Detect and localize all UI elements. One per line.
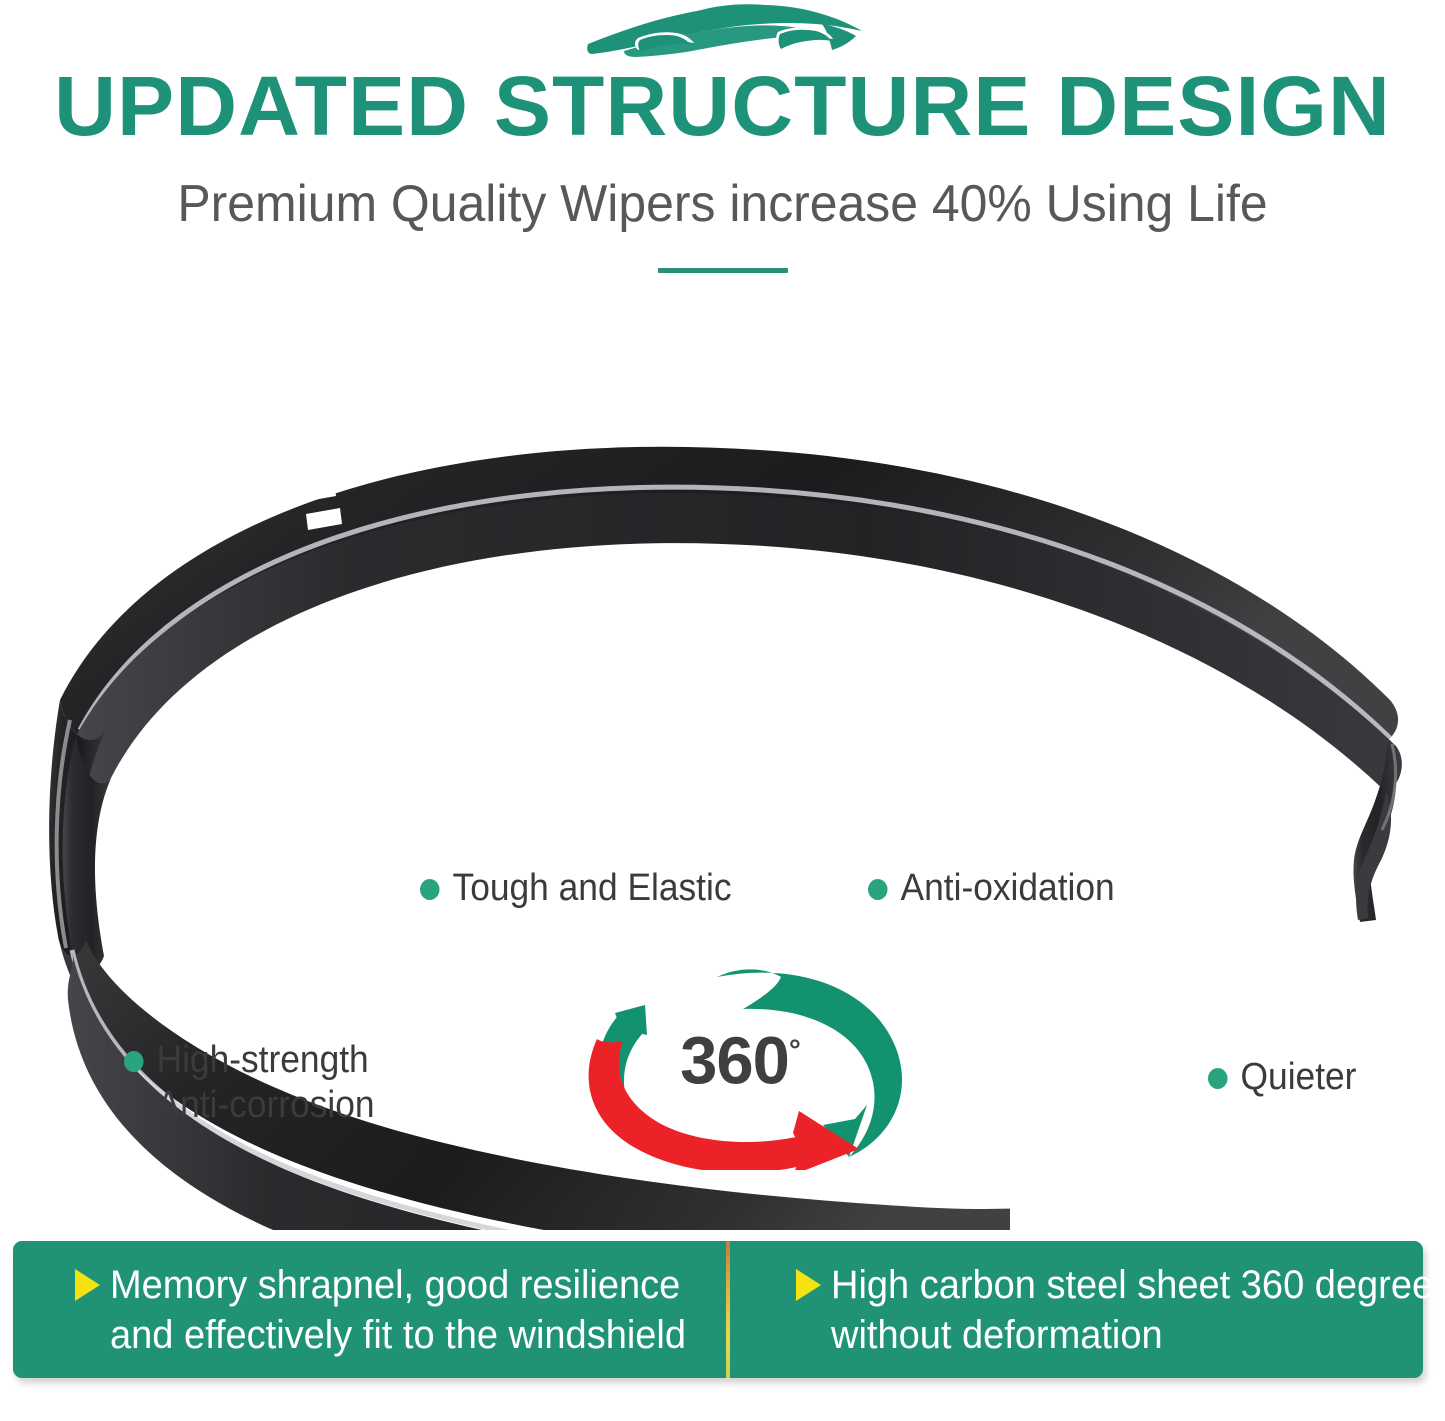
feature-label-text: Quieter (1241, 1055, 1357, 1100)
feature-high-strength-anti-corrosion: High-strength Anti-corrosion (124, 1038, 375, 1128)
feature-label-text: Anti-oxidation (901, 866, 1115, 911)
badge-360-text: 360° (567, 1016, 917, 1096)
page-subtitle: Premium Quality Wipers increase 40% Usin… (29, 172, 1416, 236)
page-title: UPDATED STRUCTURE DESIGN (0, 62, 1445, 150)
banner-text-line2: and effectively fit to the windshield (110, 1310, 686, 1360)
badge-360-degrees: 360° (567, 955, 917, 1170)
bottom-feature-banner: Memory shrapnel, good resilience and eff… (13, 1241, 1423, 1378)
feature-quieter: Quieter (1208, 1055, 1356, 1100)
product-image-area: Tough and Elastic Anti-oxidation High-st… (0, 300, 1445, 1230)
header-section: UPDATED STRUCTURE DESIGN Premium Quality… (0, 0, 1445, 300)
banner-text-line2: without deformation (831, 1310, 1445, 1360)
sports-car-silhouette-logo (578, 2, 868, 58)
title-divider (658, 268, 788, 273)
feature-anti-oxidation: Anti-oxidation (868, 866, 1115, 911)
bullet-dot-icon (1208, 1068, 1228, 1089)
triangle-arrow-icon (75, 1269, 100, 1301)
badge-degree-symbol: ° (789, 1034, 800, 1067)
badge-value: 360 (680, 1023, 789, 1098)
banner-item-high-carbon-steel: High carbon steel sheet 360 degrees with… (716, 1241, 1445, 1378)
bullet-dot-icon (868, 879, 888, 900)
triangle-arrow-icon (796, 1269, 821, 1301)
banner-text-line1: High carbon steel sheet 360 degrees (831, 1260, 1445, 1310)
feature-label-text-line1: High-strength (157, 1038, 375, 1083)
banner-text-line1: Memory shrapnel, good resilience (110, 1260, 686, 1310)
banner-item-memory-shrapnel: Memory shrapnel, good resilience and eff… (13, 1241, 716, 1378)
feature-label-text-line2: Anti-corrosion (157, 1083, 375, 1128)
bullet-dot-icon (420, 879, 440, 900)
bullet-dot-icon (124, 1051, 144, 1072)
feature-label-text: Tough and Elastic (453, 866, 732, 911)
banner-vertical-divider (726, 1241, 730, 1378)
feature-tough-and-elastic: Tough and Elastic (420, 866, 732, 911)
